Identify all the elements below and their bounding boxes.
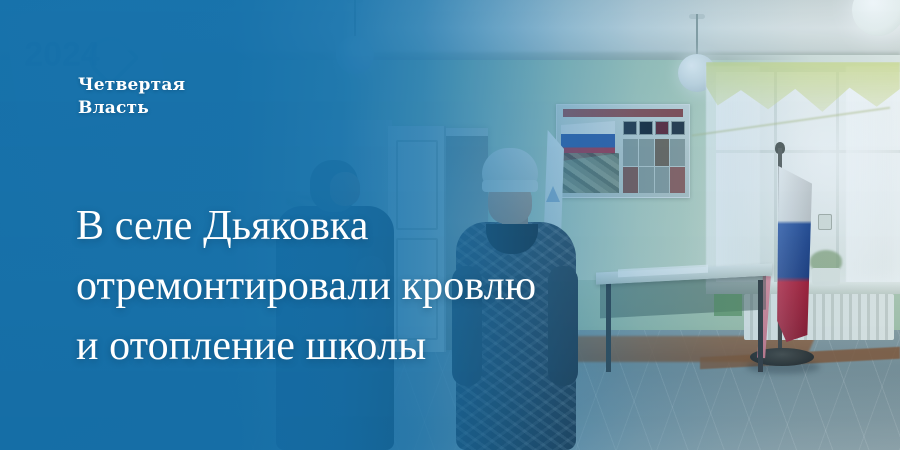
- article-headline: В селе Дьяковка отремонтировали кровлю и…: [76, 196, 716, 376]
- article-share-card: 2024: [0, 0, 900, 450]
- card-content: Четвертая Власть В селе Дьяковка отремон…: [0, 0, 900, 450]
- site-logo[interactable]: Четвертая Власть: [78, 74, 185, 120]
- headline-line-1: В селе Дьяковка: [76, 196, 716, 256]
- headline-line-3: и отопление школы: [76, 316, 716, 376]
- headline-line-2: отремонтировали кровлю: [76, 256, 716, 316]
- site-logo-line2: Власть: [78, 97, 185, 120]
- site-logo-line1: Четвертая: [78, 74, 185, 97]
